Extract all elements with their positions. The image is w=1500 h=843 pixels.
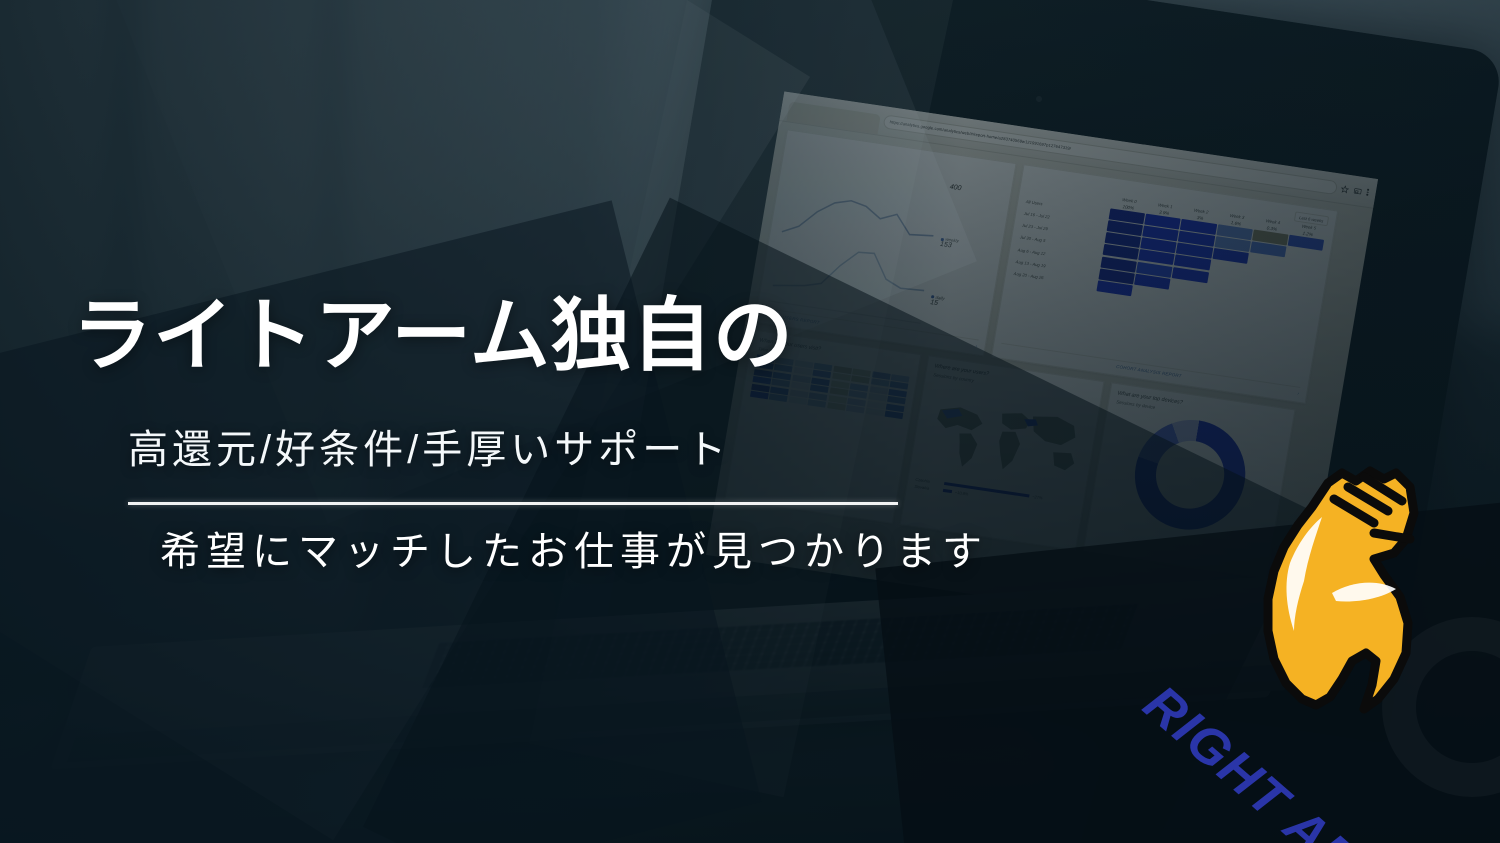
right-arm-logo[interactable]: RIGHT ARM	[1224, 447, 1474, 747]
flexed-arm-icon	[1224, 447, 1474, 747]
hero-subline: 高還元/好条件/手厚いサポート	[128, 430, 730, 470]
divider	[128, 502, 898, 505]
hero-tagline: 希望にマッチしたお仕事が見つかります	[160, 532, 988, 572]
hero-banner: https://analytics.google.com/analytics/w…	[0, 0, 1500, 843]
page-title: ライトアーム独自の	[72, 296, 794, 376]
